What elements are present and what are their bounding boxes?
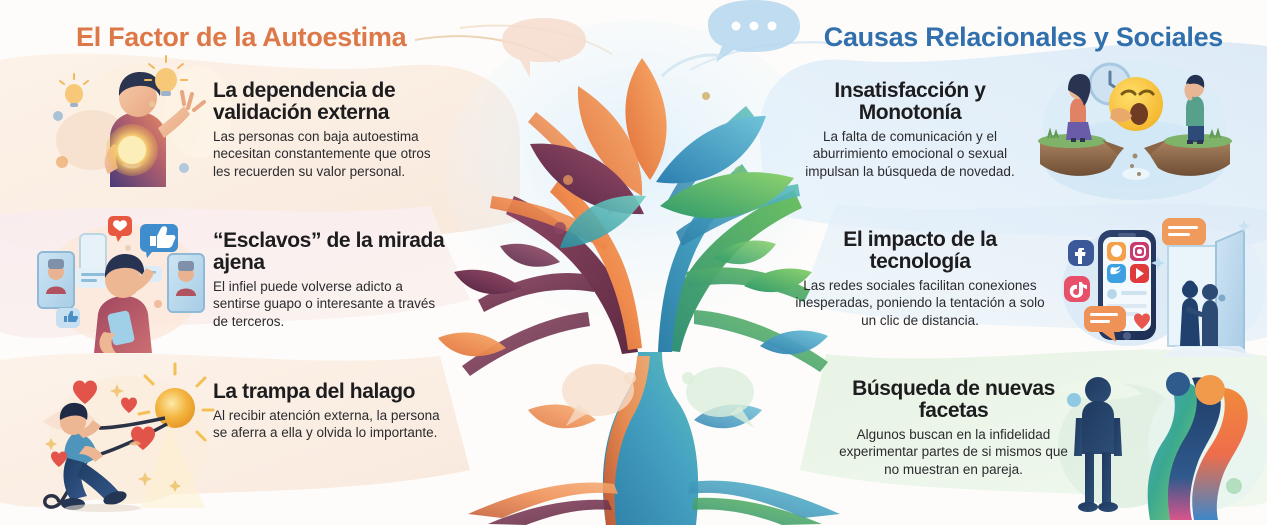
right-column-title: Causas Relacionales y Sociales: [824, 22, 1223, 53]
illustration-impacto-tecnologia: [1058, 212, 1263, 357]
body-text: Las personas con baja autoestima necesit…: [213, 128, 448, 180]
text-block-impacto-tecnologia: El impacto de la tecnología Las redes so…: [795, 229, 1045, 329]
speech-bubble-icon: [708, 0, 800, 62]
body-text: Al recibir atención externa, la persona …: [213, 407, 448, 442]
body-text: El infiel puede volverse adicto a sentir…: [213, 278, 448, 330]
heading: Insatisfacción y Monotonía: [790, 80, 1030, 124]
illustration-trampa-halago: [33, 362, 213, 512]
infographic-canvas: El Factor de la Autoestima Causas Relaci…: [0, 0, 1267, 525]
body-text: La falta de comunicación y el aburrimien…: [790, 128, 1030, 180]
body-text: Las redes sociales facilitan conexiones …: [795, 277, 1045, 329]
heading: El impacto de la tecnología: [795, 229, 1045, 273]
illustration-nuevas-facetas: [1058, 368, 1263, 520]
text-block-nuevas-facetas: Búsqueda de nuevas facetas Algunos busca…: [836, 378, 1071, 478]
left-column-title: El Factor de la Autoestima: [76, 22, 406, 53]
illustration-insatisfaccion-monotonia: [1040, 52, 1230, 200]
text-block-trampa-halago: La trampa del halago Al recibir atención…: [213, 381, 448, 442]
heading: “Esclavos” de la mirada ajena: [213, 230, 448, 274]
body-text: Algunos buscan en la infidelidad experim…: [836, 426, 1071, 478]
text-block-mirada-ajena: “Esclavos” de la mirada ajena El infiel …: [213, 230, 448, 330]
text-block-validacion-externa: La dependencia de validación externa Las…: [213, 80, 448, 180]
heading: La dependencia de validación externa: [213, 80, 448, 124]
illustration-mirada-ajena: [28, 208, 208, 353]
illustration-validation-externa: [52, 52, 217, 187]
heading: La trampa del halago: [213, 381, 448, 403]
text-block-insatisfaccion: Insatisfacción y Monotonía La falta de c…: [790, 80, 1030, 180]
heading: Búsqueda de nuevas facetas: [836, 378, 1071, 422]
